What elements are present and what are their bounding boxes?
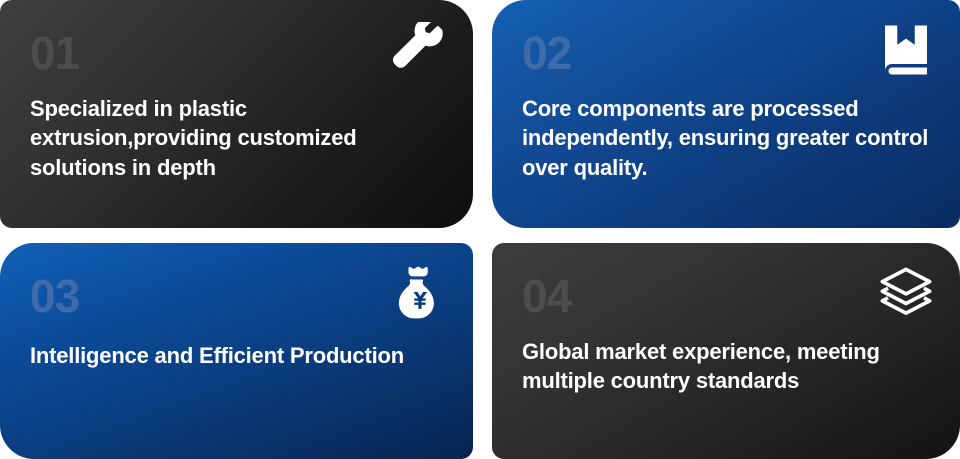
- feature-card-03[interactable]: 03 Intelligence and Efficient Production: [0, 243, 473, 459]
- card-description: Core components are processed independen…: [522, 94, 930, 182]
- feature-card-02[interactable]: 02 Core components are processed indepen…: [492, 0, 960, 228]
- card-description: Intelligence and Efficient Production: [30, 341, 443, 370]
- card-description: Global market experience, meeting multip…: [522, 337, 930, 396]
- card-number: 02: [522, 30, 930, 76]
- card-number: 04: [522, 273, 930, 319]
- feature-card-grid: 01 Specialized in plastic extrusion,prov…: [0, 0, 960, 459]
- feature-card-04[interactable]: 04 Global market experience, meeting mul…: [492, 243, 960, 459]
- feature-card-01[interactable]: 01 Specialized in plastic extrusion,prov…: [0, 0, 473, 228]
- card-number: 03: [30, 273, 443, 319]
- card-description: Specialized in plastic extrusion,providi…: [30, 94, 443, 182]
- card-number: 01: [30, 30, 443, 76]
